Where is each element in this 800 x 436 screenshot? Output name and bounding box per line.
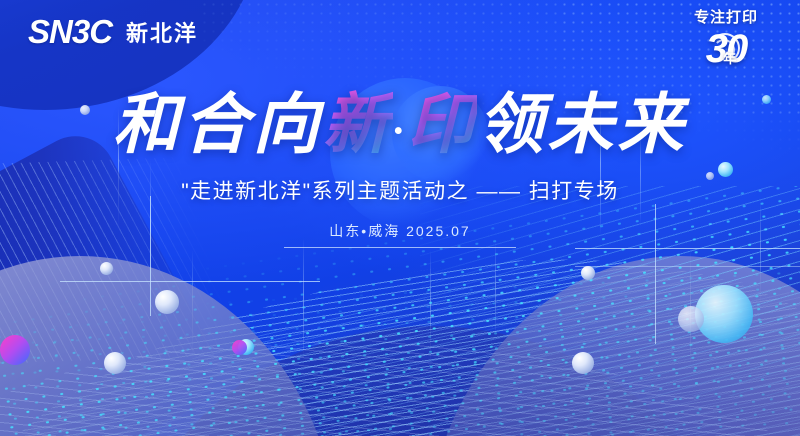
floating-sphere-pink [232,340,247,355]
grid-line [60,281,320,282]
poster-subtitle: "走进新北洋"系列主题活动之 —— 扫打专场 [0,175,800,205]
company-name-cn: 新北洋 [126,16,198,48]
hill-back [120,326,740,436]
light-streak [430,250,431,370]
floating-sphere [678,306,704,332]
light-streak [690,250,691,370]
grid-line [575,266,800,267]
floating-sphere [155,290,179,314]
hill-left [0,256,340,436]
event-location-date: 山东•威海 2025.07 [329,223,470,239]
light-streak [192,250,193,360]
floating-sphere-pink [0,335,30,365]
badge-unit-label: 年 [723,52,736,65]
brand-logo[interactable]: SN3C 新北洋 [28,15,198,48]
title-part-1: 和合 [113,89,253,162]
meta-underline [284,247,516,248]
title-part-5: 领未来 [477,89,687,162]
floating-sphere [104,352,126,374]
floating-sphere [238,339,254,355]
badge-number: 30 年 [706,29,747,69]
mesh-dot-pattern [0,263,800,436]
light-streak [495,240,496,340]
wave-line-layer [0,287,800,436]
floating-sphere [581,266,595,280]
title-separator: · [393,108,408,154]
poster-center-content: 和合向新·印领未来 "走进新北洋"系列主题活动之 —— 扫打专场 山东•威海 2… [0,92,800,241]
event-meta: 山东•威海 2025.07 [303,221,496,241]
floating-sphere [100,262,113,275]
light-streak [303,238,304,368]
hill-right [420,256,800,436]
badge-top-text: 专注打印 [674,10,778,27]
snbc-logo: SN3C [28,15,112,48]
main-title: 和合向新·印领未来 [0,92,800,159]
grid-line [575,248,800,249]
title-part-3-gradient: 新 [323,89,393,162]
floating-sphere [572,352,594,374]
event-poster: SN3C 新北洋 专注打印 30 年 和合向新·印领未来 "走进新北洋"系列主题… [0,0,800,436]
title-part-2: 向 [253,89,323,162]
anniversary-badge: 专注打印 30 年 [674,10,778,69]
floating-sphere-large [695,285,753,343]
title-part-4-gradient: 印 [407,89,477,162]
